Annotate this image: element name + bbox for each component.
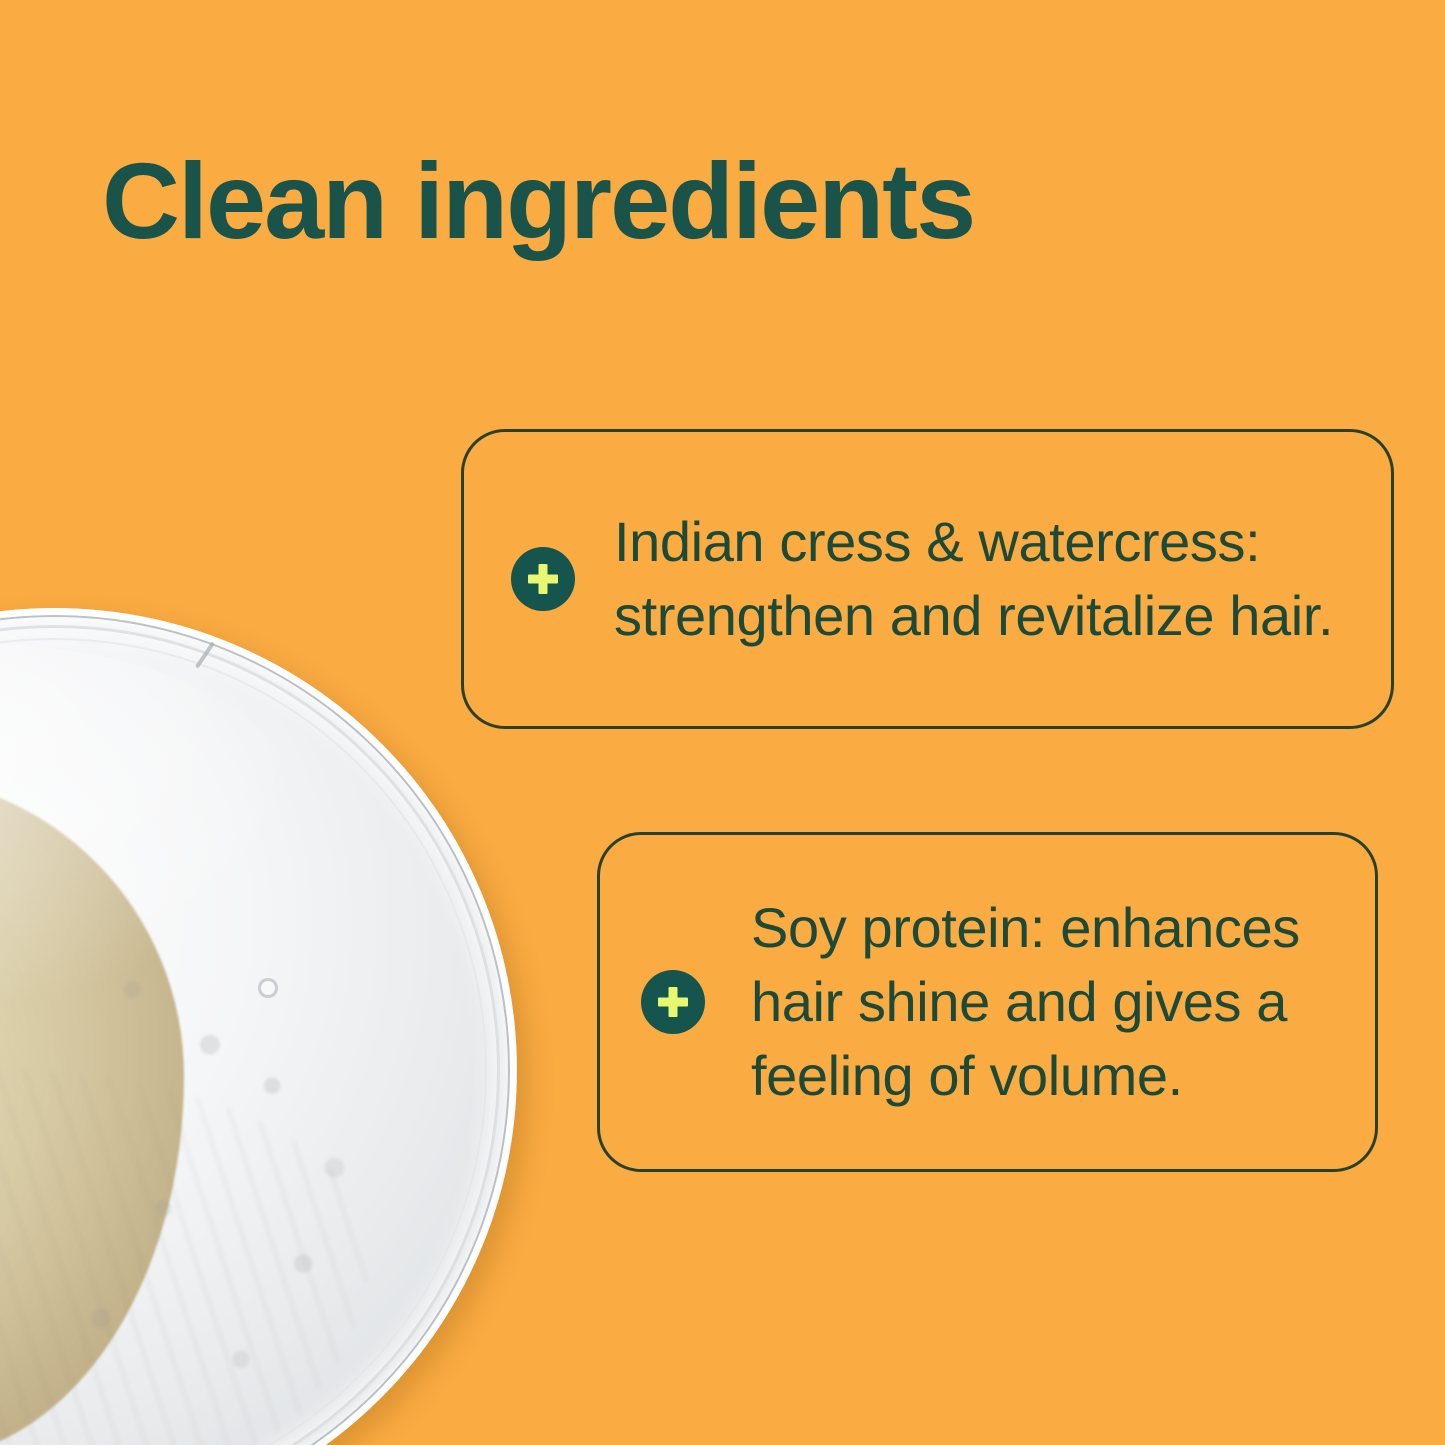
dish-rim-outer [0, 608, 517, 1445]
ingredient-card-2-text: Soy protein: enhances hair shine and giv… [751, 891, 1375, 1113]
ingredient-card-1-text: Indian cress & watercress: strengthen an… [614, 505, 1354, 653]
page-title: Clean ingredients [102, 144, 974, 257]
ingredients-infographic: Clean ingredients Indian cress & watercr… [0, 0, 1445, 1445]
plus-icon [641, 970, 705, 1034]
dish-mold-notch-icon [258, 978, 278, 998]
plus-icon [511, 547, 575, 611]
petri-dish-photo [0, 608, 517, 1445]
ingredient-card-2: Soy protein: enhances hair shine and giv… [597, 832, 1378, 1172]
ingredient-card-1: Indian cress & watercress: strengthen an… [461, 429, 1394, 729]
